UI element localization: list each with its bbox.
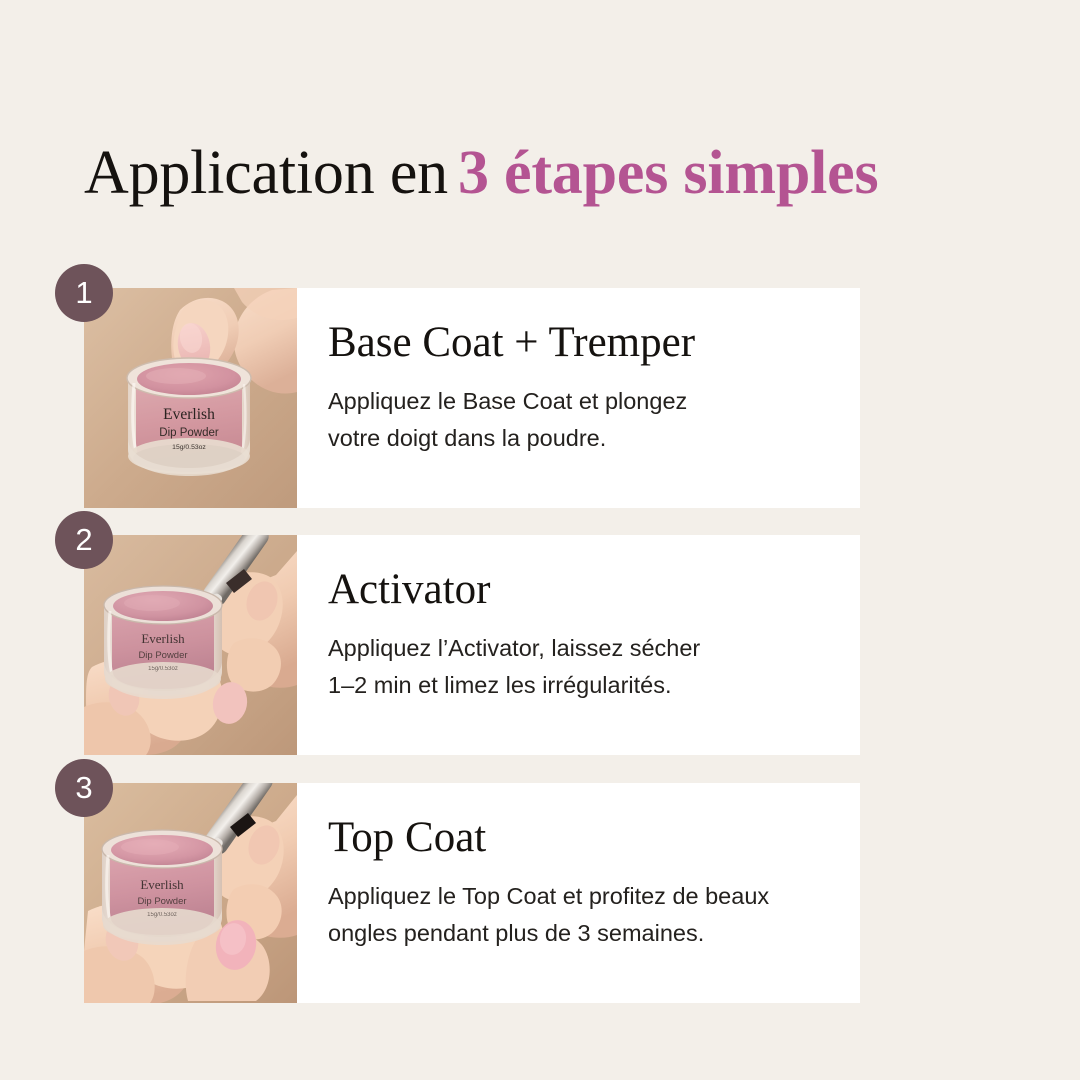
step-photo-1: Everlish Dip Powder 15g/0.53oz — [84, 288, 297, 508]
step-heading-2: Activator — [328, 564, 834, 616]
jar-brand-text: Everlish — [140, 877, 184, 892]
step-text-3: Top Coat Appliquez le Top Coat et profit… — [297, 783, 860, 1003]
step-photo-2: Everlish Dip Powder 15g/0.53oz — [84, 535, 297, 755]
step-row-3: Everlish Dip Powder 15g/0.53oz Top Coat … — [84, 783, 860, 1003]
page-title-accent: 3 étapes simples — [458, 139, 878, 207]
step-description-1: Appliquez le Base Coat et plongez votre … — [328, 383, 834, 457]
step-description-2: Appliquez l’Activator, laissez sécher 1–… — [328, 630, 834, 704]
jar-product-text: Dip Powder — [159, 427, 219, 439]
step-text-2: Activator Appliquez l’Activator, laissez… — [297, 535, 860, 755]
step-badge-number: 3 — [75, 772, 92, 803]
step-badge-2: 2 — [55, 511, 113, 569]
jar-product-text: Dip Powder — [137, 896, 186, 907]
top-coat-brush-illustration: Everlish Dip Powder 15g/0.53oz — [84, 783, 297, 1003]
jar-product-text: Dip Powder — [138, 650, 187, 661]
jar-brand-text: Everlish — [141, 631, 185, 646]
jar-brand-text: Everlish — [163, 406, 215, 423]
step-row-1: Everlish Dip Powder 15g/0.53oz Base Coat… — [84, 288, 860, 508]
page-title: Application en3 étapes simples — [84, 135, 878, 211]
jar-size-text: 15g/0.53oz — [172, 444, 206, 451]
activator-brush-illustration: Everlish Dip Powder 15g/0.53oz — [84, 535, 297, 755]
step-badge-3: 3 — [55, 759, 113, 817]
step-badge-1: 1 — [55, 264, 113, 322]
step-badge-number: 1 — [75, 277, 92, 308]
jar-size-text: 15g/0.53oz — [147, 912, 177, 918]
jar-size-text: 15g/0.53oz — [148, 666, 178, 672]
step-badge-number: 2 — [75, 524, 92, 555]
step-text-1: Base Coat + Tremper Appliquez le Base Co… — [297, 288, 860, 508]
step-description-3: Appliquez le Top Coat et profitez de bea… — [328, 878, 834, 952]
infographic-canvas: Application en3 étapes simples 1 — [0, 0, 1080, 1080]
step-row-2: Everlish Dip Powder 15g/0.53oz Activator… — [84, 535, 860, 755]
step-photo-3: Everlish Dip Powder 15g/0.53oz — [84, 783, 297, 1003]
page-title-plain: Application en — [84, 139, 448, 207]
step-heading-3: Top Coat — [328, 812, 834, 864]
dip-powder-jar-illustration: Everlish Dip Powder 15g/0.53oz — [84, 288, 297, 508]
step-heading-1: Base Coat + Tremper — [328, 317, 834, 369]
